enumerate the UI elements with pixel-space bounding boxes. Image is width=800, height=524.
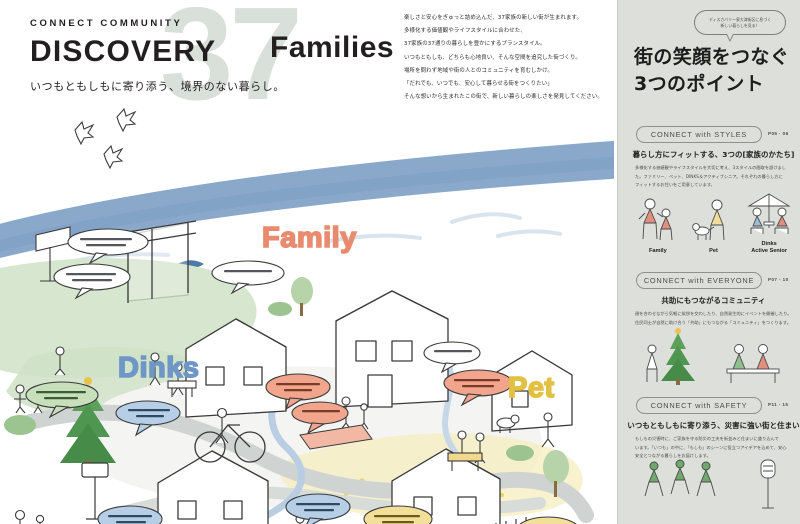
panel-headline-line-1: 街の笑顔をつなぐ <box>634 44 794 71</box>
style-cell-dinks: Dinks Active Senior <box>743 188 795 256</box>
section-body-styles: 多様化する価値観やライフスタイルを大切に考え、3スタイルの間取を設けまし た。フ… <box>635 164 793 190</box>
style-cell-family: Family <box>632 195 684 256</box>
running-people-illustration <box>642 456 730 517</box>
section-heading-safety: いつもともしもに寄り添う、災害に強い街と住まい <box>622 420 800 431</box>
style-caption-pet: Pet <box>687 248 739 256</box>
right-panel: ディスカバリー泉大津街区に息づく 新しい暮らしを見る！ 街の笑顔をつなぐ 3つの… <box>617 0 800 524</box>
style-caption-dinks: Dinks Active Senior <box>743 241 795 256</box>
eyebrow-text: CONNECT COMMUNITY <box>30 18 390 29</box>
top-bubble-tail <box>726 34 734 42</box>
christmas-tree-illustration <box>640 327 706 392</box>
tree <box>291 277 313 316</box>
everyone-icons-row <box>632 330 795 392</box>
section-heading-styles: 暮らし方にフィットする、3つの[家族のかたち] <box>622 149 800 160</box>
page-number-safety: P11 - 15 <box>768 402 788 407</box>
panel-headline-line-2: 3つのポイント <box>634 71 794 98</box>
pill-label: CONNECT with EVERYONE <box>644 276 754 285</box>
pill-label: CONNECT with STYLES <box>651 130 747 139</box>
pill-connect-with-styles[interactable]: CONNECT with STYLES <box>636 126 762 143</box>
section-heading-everyone: 共助にもつながるコミュニティ <box>622 295 800 306</box>
bird-icon <box>75 109 135 168</box>
brochure-spread: 37 CONNECT COMMUNITY DISCOVERY いつもともしもに寄… <box>0 0 800 524</box>
body-line: た。ファミリー、ペット、DINKS＆アクティブシニア。それぞれの暮らし方に <box>635 173 793 182</box>
pill-connect-with-everyone[interactable]: CONNECT with EVERYONE <box>636 272 762 289</box>
zone-label-pet: Pet <box>508 372 555 405</box>
body-line: もしもの災害時に、ご家族を守る防災の工夫を街並みと住まいに盛り込んで <box>635 435 793 444</box>
intro-line: 場所を問わず地域や街の人とのコミュニティを育むしかけ。 <box>404 65 604 78</box>
family-illustration <box>632 195 684 245</box>
page-number-styles: P05 · 06 <box>768 131 789 136</box>
body-line: 住民同士が自然に助け合う「共助」にもつながる「コミュニティ」をつくります。 <box>635 319 793 328</box>
intro-line: 「だれでも、いつでも、安心して暮らせる街をつくりたい」 <box>404 78 604 91</box>
bench-neighbors-illustration <box>721 327 787 392</box>
styles-icons-row: Family <box>630 190 797 256</box>
left-spread: 37 CONNECT COMMUNITY DISCOVERY いつもともしもに寄… <box>0 0 614 524</box>
section-body-everyone: 顔を合わせながら気軽に挨拶を交わしたり、自然発生的にイベントを開催したり。 住民… <box>635 310 793 327</box>
street-lamp-illustration <box>751 456 785 517</box>
header-subtitle-jp: いつもともしもに寄り添う、境界のない暮らし。 <box>30 78 390 94</box>
dinks-senior-illustration <box>743 188 795 238</box>
page-number-everyone: P07 - 10 <box>768 277 789 282</box>
intro-paragraph: 楽しさと安心をぎゅっと詰め込んだ、37家族の新しい街が生まれます。 多様化する価… <box>404 12 604 105</box>
body-line: 多様化する価値観やライフスタイルを大切に考え、3スタイルの間取を設けまし <box>635 164 793 173</box>
pill-connect-with-safety[interactable]: CONNECT with SAFETY <box>636 397 762 414</box>
zone-label-family: Family <box>262 222 357 255</box>
intro-line: いつもともしも、どちらも心地良い、そんな空間を追究した街づくり。 <box>404 52 604 65</box>
sign-post <box>82 463 108 519</box>
intro-line: そんな想いから生まれたこの街で、新しい暮らしの楽しさを発見してください。 <box>404 91 604 104</box>
intro-line: 多様化する価値観やライフスタイルに合わせた、 <box>404 25 604 38</box>
body-line: います。「いつも」の中に、「もしも」のシーンに役立つアイデアを込めて、安心 <box>635 444 793 453</box>
style-caption-family: Family <box>632 248 684 256</box>
panel-inner: ディスカバリー泉大津街区に息づく 新しい暮らしを見る！ 街の笑顔をつなぐ 3つの… <box>622 4 797 520</box>
style-cell-pet: Pet <box>687 195 739 256</box>
pill-label: CONNECT with SAFETY <box>651 401 748 410</box>
intro-line: 楽しさと安心をぎゅっと詰め込んだ、37家族の新しい街が生まれます。 <box>404 12 604 25</box>
pet-illustration <box>687 195 739 245</box>
town-illustration <box>0 95 614 524</box>
body-line: 顔を合わせながら気軽に挨拶を交わしたり、自然発生的にイベントを開催したり。 <box>635 310 793 319</box>
top-bubble-line-2: 新しい暮らしを見る！ <box>721 23 760 29</box>
panel-top-bubble: ディスカバリー泉大津街区に息づく 新しい暮らしを見る！ <box>694 10 786 35</box>
families-word: Families <box>270 31 394 65</box>
panel-headline: 街の笑顔をつなぐ 3つのポイント <box>634 44 794 98</box>
safety-icons-row <box>632 455 795 517</box>
zone-label-dinks: Dinks <box>118 352 199 385</box>
intro-line: 37家族の37通りの暮らしを豊かにするプランスタイル。 <box>404 38 604 51</box>
